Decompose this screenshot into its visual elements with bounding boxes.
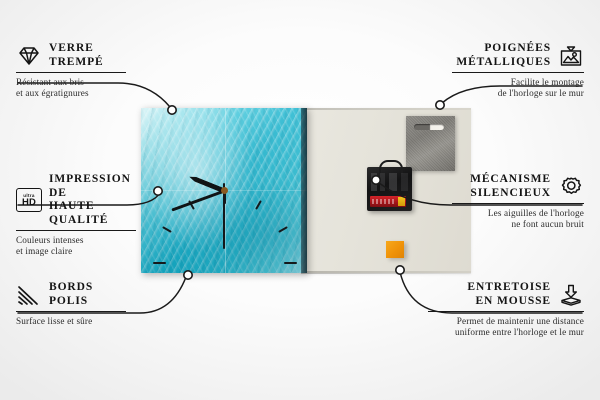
callout-header: BORDS POLIS [16,281,126,308]
callout-divider [452,72,584,73]
picture-frame-hanger-icon [558,44,584,68]
callout-divider [16,311,126,312]
clock-minute-hand [171,189,225,211]
battery-label [372,199,396,204]
clock-tick [278,226,288,233]
callout-mecanisme-silencieux: MÉCANISME SILENCIEUX Les aiguilles de l'… [452,173,584,230]
callout-verre-trempe: VERRE TREMPÉ Résistant aux bris et aux é… [16,42,126,99]
callout-bords-polis: BORDS POLIS Surface lisse et sûre [16,281,126,327]
wall-panel-top-edge [301,108,471,110]
clock-dial [141,108,307,273]
callout-subtitle: Facilite le montage de l'horloge sur le … [452,77,584,99]
gear-icon [558,175,584,199]
clock-tick [284,262,297,264]
mechanism-hanger-loop [379,160,403,174]
callout-impression-haute-qualite: ultra HD IMPRESSION DE HAUTE QUALITÉ Cou… [16,173,136,257]
callout-title: MÉCANISME SILENCIEUX [470,173,551,200]
callout-header: ENTRETOISE EN MOUSSE [428,281,584,308]
callout-divider [428,311,584,312]
ultra-hd-badge-icon: ultra HD [16,188,42,212]
arrow-down-onto-pad-icon [558,283,584,307]
wall-panel-bottom-edge [301,271,471,274]
callout-entretoise-en-mousse: ENTRETOISE EN MOUSSE Permet de maintenir… [428,281,584,338]
callout-header: VERRE TREMPÉ [16,42,126,69]
clock-tick [153,262,166,264]
clock-hour-hand [188,174,225,193]
foam-spacer [386,241,404,258]
callout-subtitle: Résistant aux bris et aux égratignures [16,77,126,99]
diamond-icon [16,44,42,68]
clock-tick [162,226,172,233]
callout-header: MÉCANISME SILENCIEUX [452,173,584,200]
battery [370,196,406,207]
clock-tick [255,200,262,210]
callout-title: ENTRETOISE EN MOUSSE [467,281,551,308]
metal-hanger-plate [406,116,455,171]
callout-subtitle: Les aiguilles de l'horloge ne font aucun… [452,208,584,230]
glass-wall-clock [141,108,307,273]
callout-subtitle: Permet de maintenir une distance uniform… [428,316,584,338]
callout-title: IMPRESSION DE HAUTE QUALITÉ [49,173,136,227]
callout-title: VERRE TREMPÉ [49,42,104,69]
polished-edge-lines-icon [16,283,42,307]
product-photo [141,108,471,273]
callout-divider [452,203,584,204]
callout-title: BORDS POLIS [49,281,93,308]
clock-center-hub [221,187,228,194]
callout-poignees-metalliques: POIGNÉES MÉTALLIQUES Facilite le montage… [452,42,584,99]
callout-subtitle: Couleurs intenses et image claire [16,235,136,257]
callout-divider [16,230,136,231]
clock-mechanism [367,167,412,211]
mechanism-surface-detail [371,173,408,191]
callout-subtitle: Surface lisse et sûre [16,316,126,327]
hanger-slot [414,124,444,130]
callout-title: POIGNÉES MÉTALLIQUES [456,42,551,69]
callout-header: POIGNÉES MÉTALLIQUES [452,42,584,69]
callout-header: ultra HD IMPRESSION DE HAUTE QUALITÉ [16,173,136,227]
callout-divider [16,72,126,73]
infographic-canvas: VERRE TREMPÉ Résistant aux bris et aux é… [0,0,600,400]
